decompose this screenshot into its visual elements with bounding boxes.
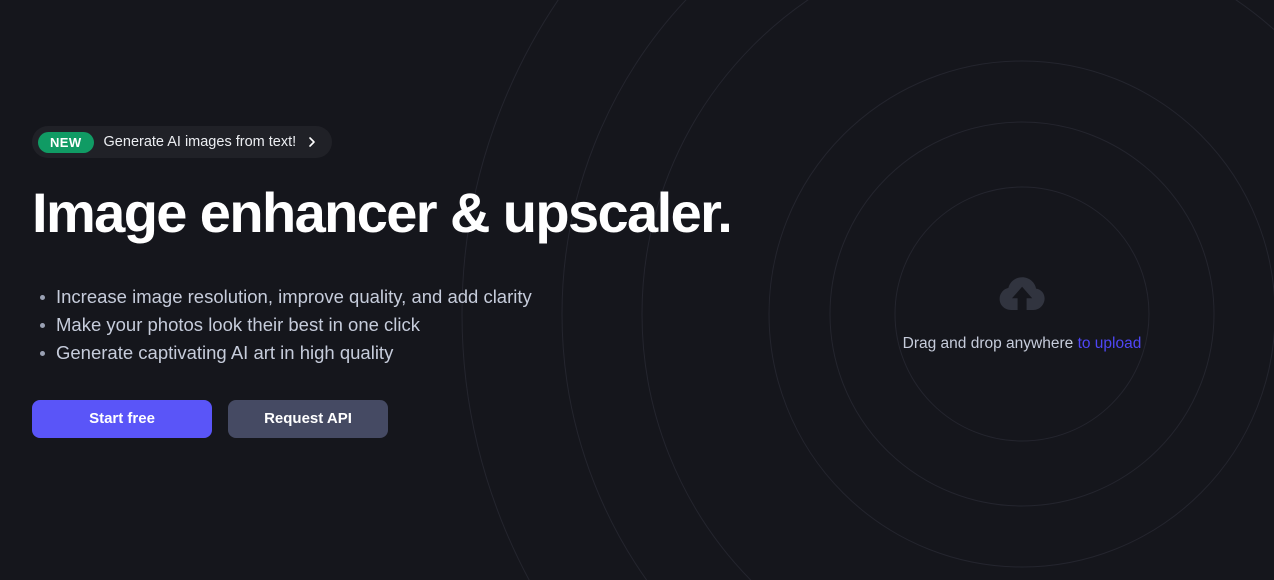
upload-link[interactable]: to upload (1078, 335, 1142, 352)
list-item-label: Make your photos look their best in one … (56, 314, 420, 335)
cloud-upload-icon (999, 277, 1045, 313)
page-title: Image enhancer & upscaler. (32, 184, 832, 243)
start-free-button[interactable]: Start free (32, 400, 212, 438)
list-item: Increase image resolution, improve quali… (32, 283, 832, 311)
hero-content: NEW Generate AI images from text! Image … (32, 126, 832, 438)
upload-prompt-text: Drag and drop anywhere (903, 335, 1074, 352)
bullet-icon (40, 323, 45, 328)
badge-new-tag: NEW (38, 132, 94, 153)
list-item: Generate captivating AI art in high qual… (32, 339, 832, 367)
cta-row: Start free Request API (32, 400, 832, 438)
feature-list: Increase image resolution, improve quali… (32, 283, 832, 367)
list-item: Make your photos look their best in one … (32, 311, 832, 339)
upload-prompt: Drag and drop anywhere to upload (903, 335, 1142, 353)
chevron-right-icon (306, 136, 318, 148)
hero-page: NEW Generate AI images from text! Image … (0, 0, 1274, 580)
request-api-button[interactable]: Request API (228, 400, 388, 438)
bullet-icon (40, 351, 45, 356)
bullet-icon (40, 295, 45, 300)
list-item-label: Generate captivating AI art in high qual… (56, 342, 393, 363)
promo-badge[interactable]: NEW Generate AI images from text! (32, 126, 332, 158)
badge-label: Generate AI images from text! (104, 135, 297, 150)
list-item-label: Increase image resolution, improve quali… (56, 286, 532, 307)
upload-dropzone[interactable]: Drag and drop anywhere to upload (822, 190, 1222, 440)
